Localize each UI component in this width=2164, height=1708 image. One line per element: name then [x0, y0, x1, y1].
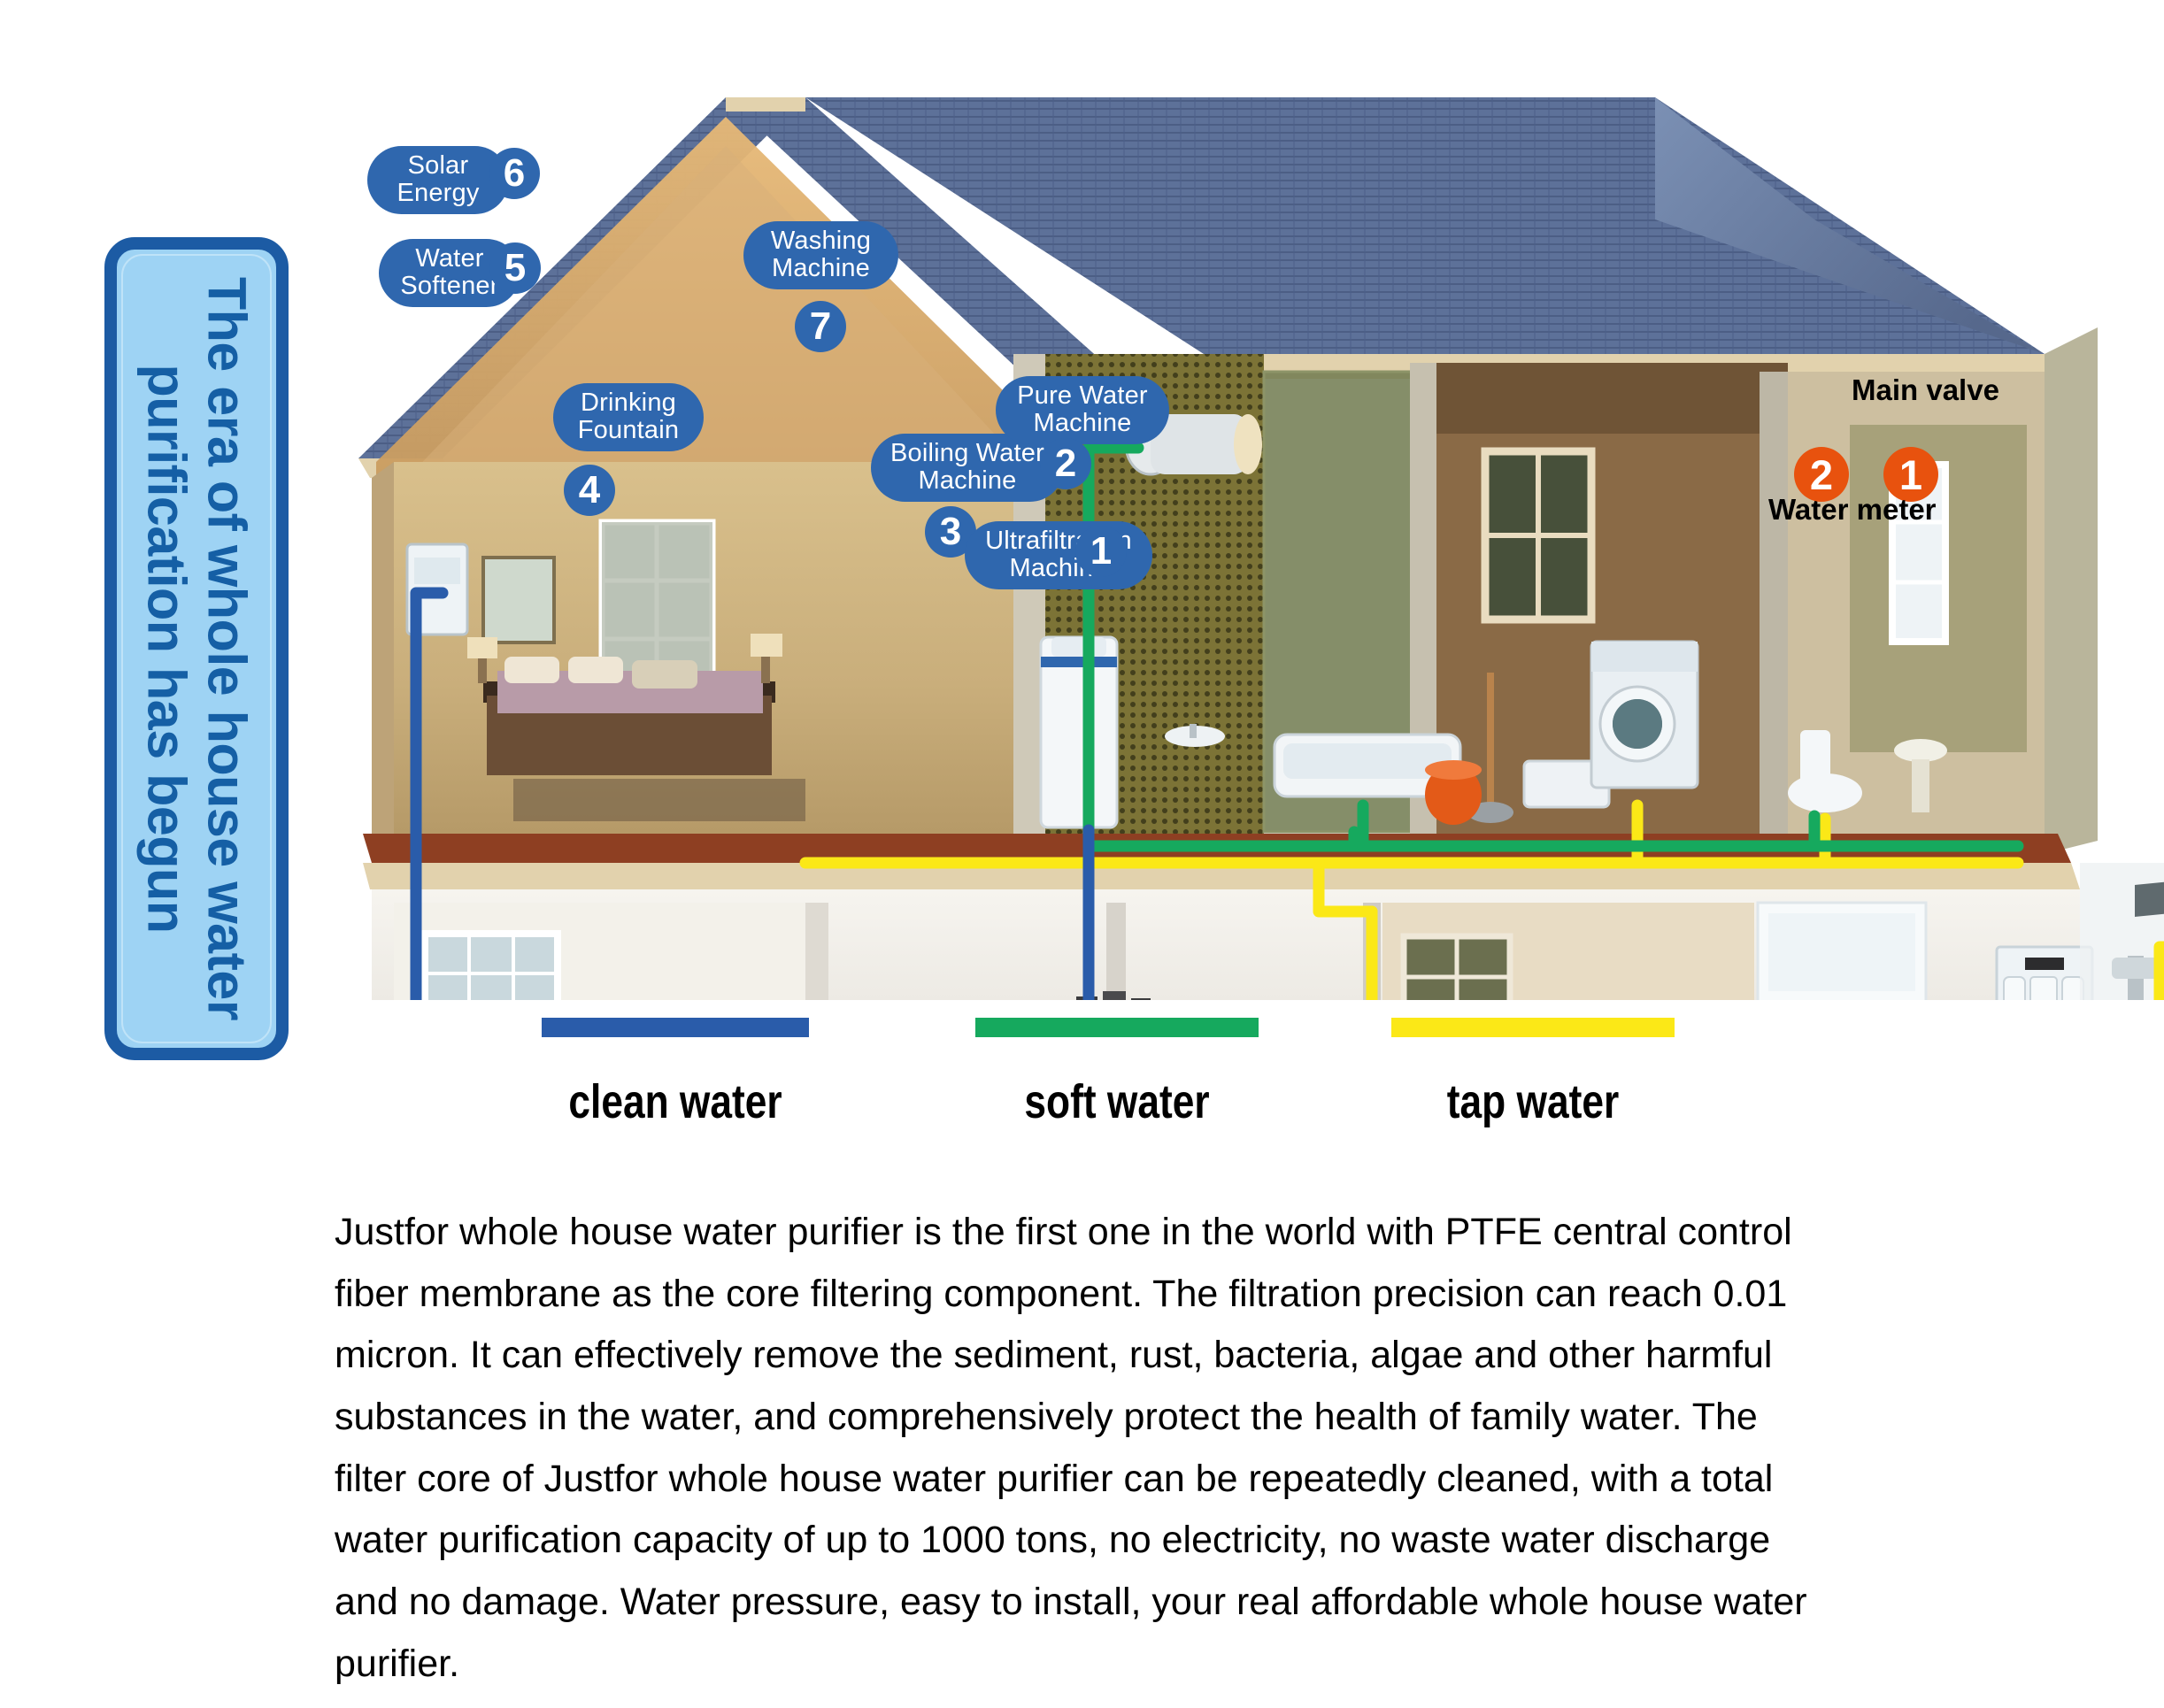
legend-label-soft-water: soft water	[1001, 1074, 1233, 1129]
description-paragraph: Justfor whole house water purifier is th…	[335, 1202, 1839, 1695]
legend-swatch-tap-water	[1391, 1018, 1675, 1037]
banner-title: The era of whole house water purificatio…	[136, 250, 258, 1047]
callout-drinking-fountain: Drinking Fountain	[553, 383, 704, 451]
label-main-valve: Main valve	[1852, 373, 1999, 407]
badge-pure-water-machine: 2	[1040, 438, 1091, 489]
badge-water-meter: 2	[1794, 447, 1849, 502]
badge-ultrafiltration-machine: 1	[1075, 526, 1127, 577]
callout-solar-energy: Solar Energy	[367, 146, 509, 214]
pipe-color-legend: clean water soft water tap water	[0, 1018, 2164, 1159]
house-cutaway-illustration: Solar Energy 6 Water Softener 5 Washing …	[310, 62, 2164, 1000]
side-banner: The era of whole house water purificatio…	[104, 237, 289, 1060]
house-svg	[310, 62, 2164, 1000]
label-water-meter: Water meter	[1768, 493, 1937, 527]
callout-pure-water-machine: Pure Water Machine	[996, 376, 1169, 444]
legend-item-clean-water: clean water	[542, 1018, 809, 1129]
legend-label-clean-water: clean water	[566, 1074, 785, 1129]
badge-solar-energy: 6	[489, 148, 540, 199]
legend-item-soft-water: soft water	[975, 1018, 1259, 1129]
badge-drinking-fountain: 4	[564, 465, 615, 516]
legend-swatch-soft-water	[975, 1018, 1259, 1037]
legend-label-tap-water: tap water	[1417, 1074, 1649, 1129]
legend-swatch-clean-water	[542, 1018, 809, 1037]
callout-washing-machine: Washing Machine	[743, 221, 898, 289]
badge-water-softener: 5	[489, 242, 541, 294]
badge-washing-machine: 7	[795, 301, 846, 352]
legend-item-tap-water: tap water	[1391, 1018, 1675, 1129]
